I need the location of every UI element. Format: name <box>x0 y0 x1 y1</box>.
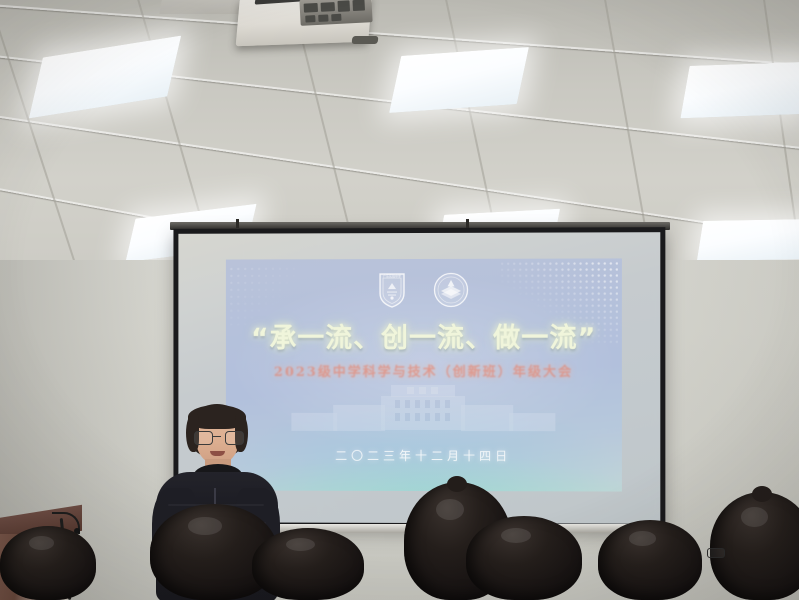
audience-eyeglasses <box>707 548 725 558</box>
hair-highlight <box>436 499 464 520</box>
audience-head-3 <box>252 528 364 600</box>
hair-highlight <box>741 507 768 526</box>
hair-bun <box>447 476 467 492</box>
svg-text:广东实验中学: 广东实验中学 <box>383 273 401 278</box>
ceiling-grid-cross-tee <box>0 0 83 260</box>
school-circular-emblem-logo <box>433 272 469 308</box>
campus-building-silhouette <box>274 383 574 449</box>
projected-slide: 广东实验中学 “承一流、创一流、做一流” <box>226 258 622 491</box>
audience-head-6 <box>598 520 702 600</box>
hair-highlight <box>188 517 221 534</box>
hair-highlight <box>629 531 656 545</box>
slide-subtitle: 2023级中学科学与技术（创新班）年级大会 <box>226 361 622 380</box>
ceiling-light-panel-3 <box>680 62 799 119</box>
screen-hook-right <box>466 219 469 228</box>
slide-logo-row: 广东实验中学 <box>226 270 622 309</box>
audience-head-5 <box>466 516 582 600</box>
projector-port-panel <box>299 0 372 26</box>
ceiling-light-panel-2 <box>389 47 529 113</box>
audience-head-7 <box>710 492 799 600</box>
university-shield-logo: 广东实验中学 <box>377 271 407 309</box>
ceiling-light-panel-1 <box>29 36 181 119</box>
slide-date: 二〇二三年十二月十四日 <box>226 447 622 465</box>
audience-head-1 <box>0 526 96 600</box>
lecture-room-photo: 广东实验中学 “承一流、创一流、做一流” <box>0 0 799 600</box>
hair-highlight <box>29 536 54 549</box>
presenter-eyeglasses <box>194 431 242 443</box>
hair-bun <box>752 486 772 502</box>
slide-main-title: “承一流、创一流、做一流” <box>226 316 622 355</box>
ceiling-light-panel-6 <box>697 219 799 260</box>
suspended-ceiling <box>0 0 799 260</box>
hair-highlight <box>501 528 531 543</box>
projector-lens <box>351 36 378 44</box>
screen-hook-left <box>236 219 239 228</box>
hair-highlight <box>286 538 315 551</box>
